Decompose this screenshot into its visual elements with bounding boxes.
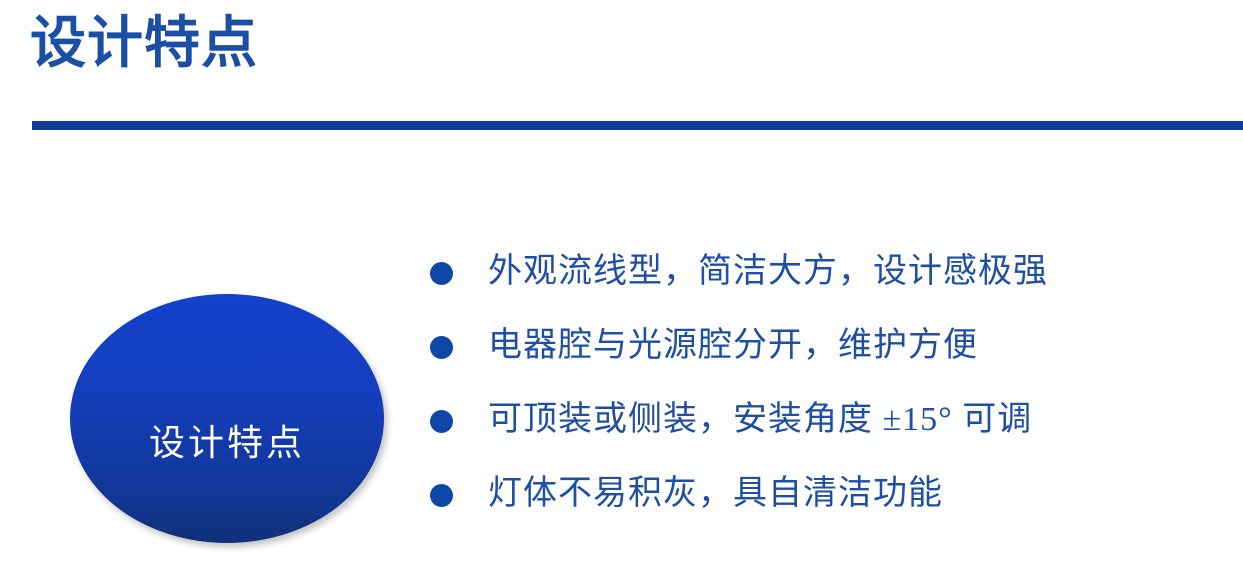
bullet-dot-icon xyxy=(430,262,453,285)
feature-bullet-list: 外观流线型，简洁大方，设计感极强 电器腔与光源腔分开，维护方便 可顶装或侧装，安… xyxy=(430,248,1230,544)
bullet-dot-icon xyxy=(430,484,453,507)
list-item-label: 可顶装或侧装，安装角度 ±15° 可调 xyxy=(488,396,1032,444)
list-item-label: 电器腔与光源腔分开，维护方便 xyxy=(488,322,978,370)
list-item: 可顶装或侧装，安装角度 ±15° 可调 xyxy=(430,396,1230,470)
page-title: 设计特点 xyxy=(30,8,258,81)
list-item-label: 灯体不易积灰，具自清洁功能 xyxy=(488,470,943,518)
list-item-label: 外观流线型，简洁大方，设计感极强 xyxy=(488,248,1048,296)
list-item: 外观流线型，简洁大方，设计感极强 xyxy=(430,248,1230,322)
badge-label: 设计特点 xyxy=(149,414,305,466)
bullet-dot-icon xyxy=(430,336,453,359)
list-item: 电器腔与光源腔分开，维护方便 xyxy=(430,322,1230,396)
bullet-dot-icon xyxy=(430,410,453,433)
slide: 设计特点 设计特点 外观流线型，简洁大方，设计感极强 电器腔与光源腔分开，维护方… xyxy=(0,0,1243,580)
list-item: 灯体不易积灰，具自清洁功能 xyxy=(430,470,1230,544)
design-features-badge: 设计特点 xyxy=(70,294,384,543)
title-divider xyxy=(32,121,1243,130)
